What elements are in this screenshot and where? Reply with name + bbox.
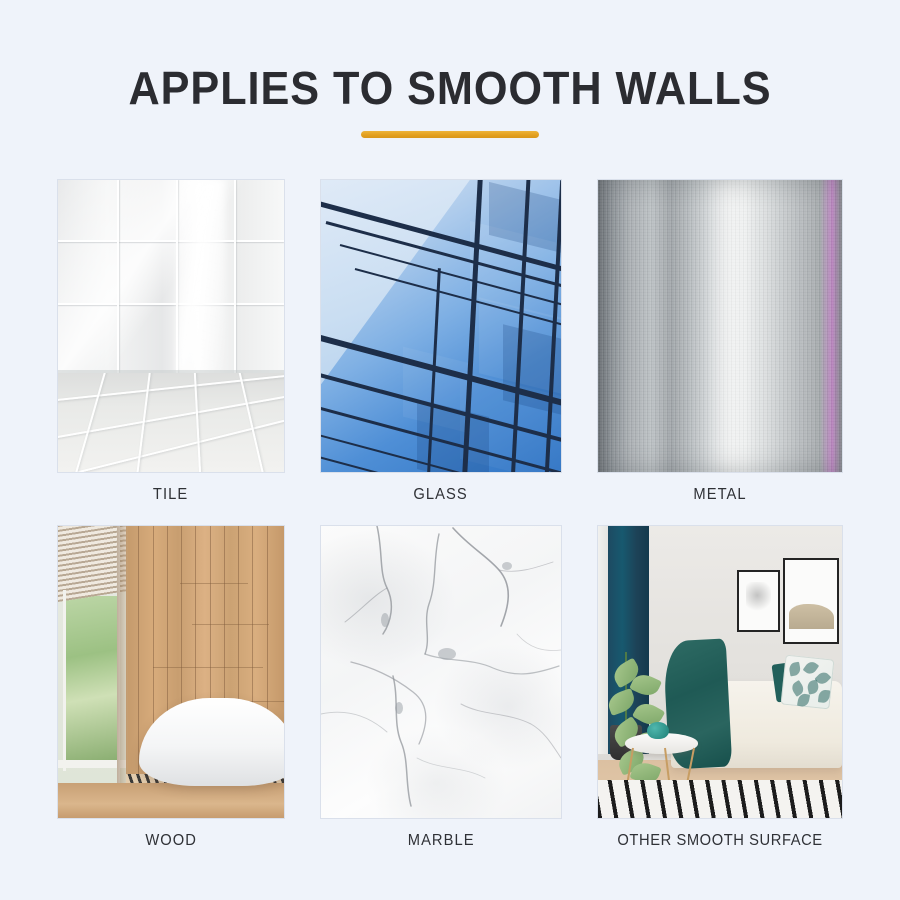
surface-card-wood: WOOD (58, 526, 284, 872)
surface-caption: OTHER SMOOTH SURFACE (617, 832, 822, 850)
other-smooth-surface-image (598, 526, 842, 818)
surface-caption: TILE (153, 486, 188, 504)
surface-caption: METAL (693, 486, 746, 504)
marble-surface-image (321, 526, 561, 818)
page-title: APPLIES TO SMOOTH WALLS (27, 62, 873, 114)
wood-surface-image (58, 526, 284, 818)
tile-surface-image (58, 180, 284, 472)
surface-grid: TILE GLASS METAL (58, 180, 842, 872)
wall-art-small (737, 570, 780, 632)
surface-caption: WOOD (145, 832, 197, 850)
surface-caption: GLASS (414, 486, 468, 504)
wall-art-large (783, 558, 838, 644)
surface-card-tile: TILE (58, 180, 284, 526)
title-underline-accent (361, 131, 539, 138)
header: APPLIES TO SMOOTH WALLS (0, 62, 900, 138)
surface-card-marble: MARBLE (321, 526, 561, 872)
surface-caption: MARBLE (408, 832, 475, 850)
marble-veining (321, 526, 561, 818)
surface-card-other: OTHER SMOOTH SURFACE (598, 526, 842, 872)
surface-card-glass: GLASS (321, 180, 561, 526)
metal-surface-image (598, 180, 842, 472)
surface-card-metal: METAL (598, 180, 842, 526)
promo-banner: APPLIES TO SMOOTH WALLS TILE (0, 0, 900, 900)
glass-surface-image (321, 180, 561, 472)
